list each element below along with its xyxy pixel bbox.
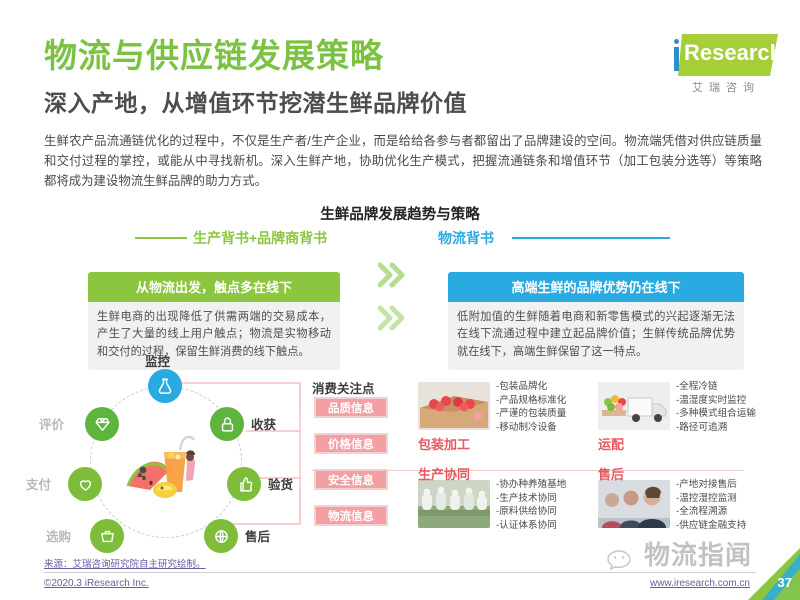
bullet: -移动制冷设备 [496,421,566,435]
bullet: -协办种养殖基地 [496,478,566,492]
panel-divider [312,470,744,471]
intro-paragraph: 生鲜农产品流通链优化的过程中，不仅是生产者/生产企业，而是给给各参与者都留出了品… [44,131,762,191]
panel-production-name: 生产协同 [418,464,470,483]
panel-aftersales-name: 售后 [598,464,624,483]
focus-tag-price[interactable]: 价格信息 [316,435,386,452]
focus-tag-quality[interactable]: 品质信息 [316,399,386,416]
bullet: -多种模式组合运输 [676,407,756,421]
double-chevron-icon [378,262,408,288]
legend-green-line [135,237,187,239]
wechat-watermark-icon [606,548,640,574]
focus-tag-safety[interactable]: 安全信息 [316,471,386,488]
bullet: -温控湿控监测 [676,492,746,506]
bullet: -生产技术协同 [496,492,566,506]
bullet: -路径可追溯 [676,421,756,435]
node-label-payment: 支付 [26,474,51,493]
node-after-sales[interactable] [204,519,238,553]
corner-decoration [748,548,800,600]
focus-tag-logistics[interactable]: 物流信息 [316,507,386,524]
node-label-inspection: 验货 [268,474,293,493]
bullet: -严谨的包装质量 [496,407,566,421]
node-purchase[interactable] [90,519,124,553]
node-label-after-sales: 售后 [245,526,270,545]
bullet: -认证体系协同 [496,519,566,533]
node-label-review: 评价 [39,414,64,433]
node-label-monitor: 监控 [145,351,170,370]
chart-title: 生鲜品牌发展趋势与策略 [0,203,800,224]
source-note: 来源：艾瑞咨询研究院自主研究绘制。 [44,556,206,570]
blue-box-heading: 高端生鲜的品牌优势仍在线下 [448,272,744,302]
node-label-purchase: 选购 [46,526,71,545]
logo-i-dot [674,39,679,44]
delivery-truck-photo [598,382,670,430]
node-payment[interactable] [68,467,102,501]
node-inspection[interactable] [227,467,261,501]
fruit-illustration [124,426,208,500]
page-number: 37 [778,575,792,590]
copyright-text: ©2020.3 iResearch Inc. [44,578,149,589]
page-subtitle: 深入产地，从增值环节挖潜生鲜品牌价值 [44,84,467,118]
bullet: -产地对接售后 [676,478,746,492]
slide-root: 物流与供应链发展策略 深入产地，从增值环节挖潜生鲜品牌价值 Research 艾… [0,0,800,600]
legend-blue-label: 物流背书 [438,228,494,248]
logo-wordmark: Research [684,40,774,66]
website-link[interactable]: www.iresearch.com.cn [650,578,750,589]
green-box-body: 生鲜电商的出现降低了供需两端的交易成本，产生了大量的线上用户触点；物流是实物移动… [88,302,340,370]
strawberry-box-photo [418,382,490,430]
consumer-journey-circle: 监控 收获 验货 售后 选购 [52,378,282,553]
focus-column-title: 消费关注点 [312,378,375,397]
panel-packaging-bullets: -包装品牌化 -产品规格标准化 -严谨的包装质量 -移动制冷设备 [496,380,566,434]
bullet: -原料供给协同 [496,505,566,519]
logo-i-stem [674,47,679,71]
double-chevron-icon-2 [378,305,408,331]
node-monitor[interactable] [148,369,182,403]
page-title: 物流与供应链发展策略 [44,38,384,74]
node-label-harvest: 收获 [251,414,276,433]
blue-box-body: 低附加值的生鲜随着电商和新零售模式的兴起逐渐无法在线下流通过程中建立起品牌价值；… [448,302,744,370]
node-review[interactable] [85,407,119,441]
node-harvest[interactable] [210,407,244,441]
chart-legend: 生产背书+品牌商背书 物流背书 [0,228,800,248]
legend-green-label: 生产背书+品牌商背书 [193,228,327,248]
green-box-heading: 从物流出发，触点多在线下 [88,272,340,302]
bullet: -全程冷链 [676,380,756,394]
legend-blue-line [512,237,670,239]
call-center-photo [598,480,670,528]
panel-delivery-name: 运配 [598,434,624,453]
bullet: -包装品牌化 [496,380,566,394]
panel-production-bullets: -协办种养殖基地 -生产技术协同 -原料供给协同 -认证体系协同 [496,478,566,532]
blue-callout-box: 高端生鲜的品牌优势仍在线下 低附加值的生鲜随着电商和新零售模式的兴起逐渐无法在线… [448,272,744,370]
logo-chinese-name: 艾瑞咨询 [676,79,776,95]
factory-workers-photo [418,480,490,528]
bullet: -供应链金融支持 [676,519,746,533]
iresearch-logo: Research 艾瑞咨询 [666,34,778,100]
panel-aftersales-bullets: -产地对接售后 -温控湿控监测 -全流程溯源 -供应链金融支持 [676,478,746,532]
green-callout-box: 从物流出发，触点多在线下 生鲜电商的出现降低了供需两端的交易成本，产生了大量的线… [88,272,340,370]
bullet: -温湿度实时监控 [676,394,756,408]
footer-divider [44,572,756,573]
panel-packaging-name: 包装加工 [418,434,470,453]
watermark-text: 物流指闻 [644,535,752,572]
bullet: -产品规格标准化 [496,394,566,408]
bullet: -全流程溯源 [676,505,746,519]
panel-delivery-bullets: -全程冷链 -温湿度实时监控 -多种模式组合运输 -路径可追溯 [676,380,756,434]
